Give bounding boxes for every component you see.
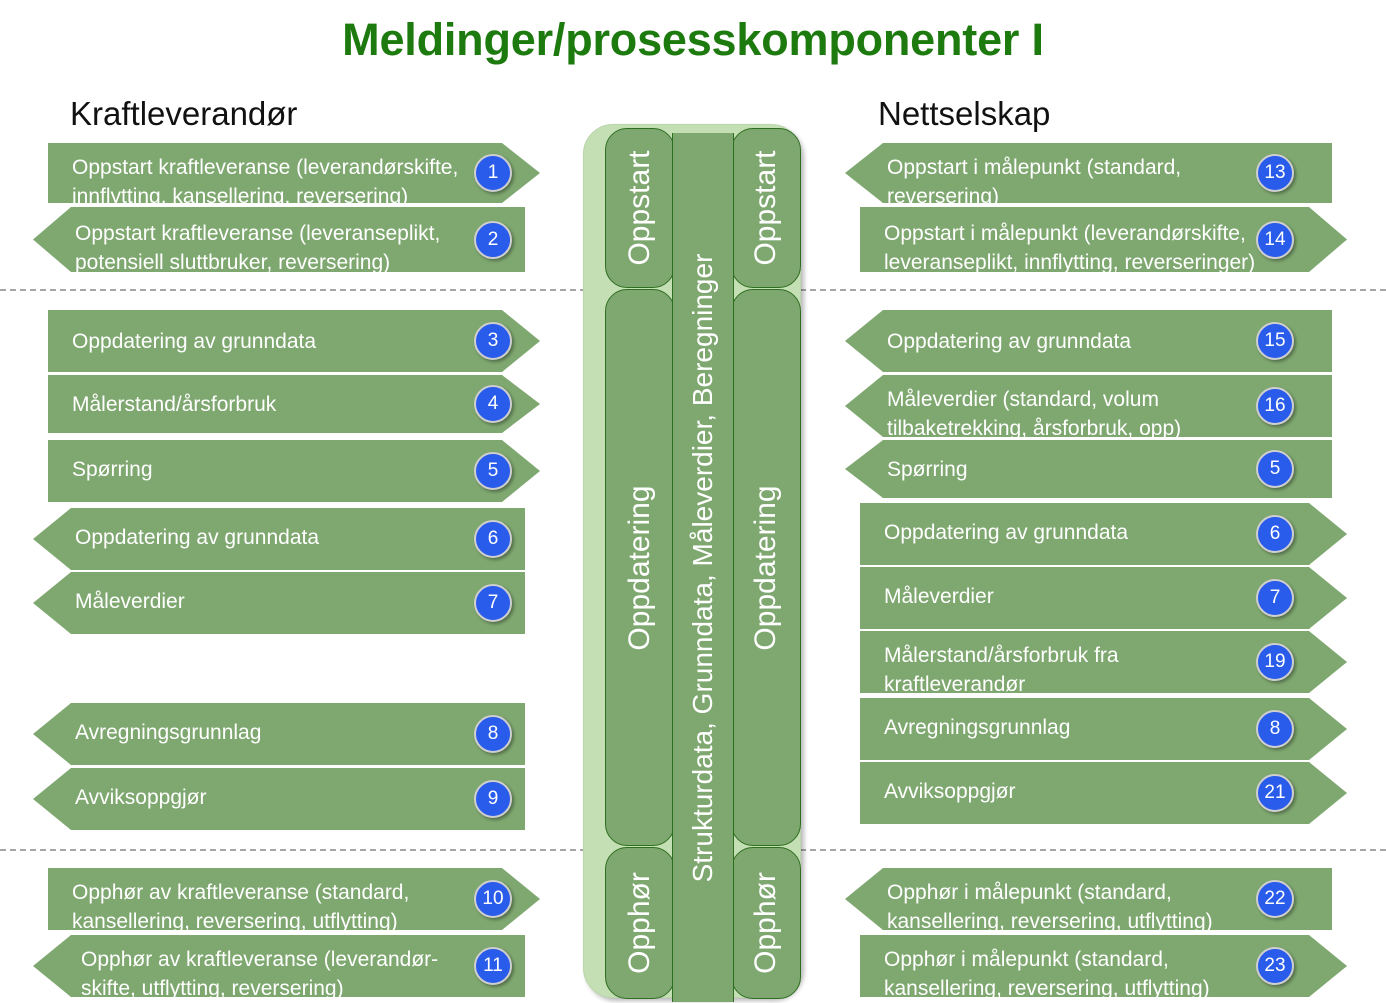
message-label: Målerstand/årsforbruk fra kraftleverandø… [884,641,1119,699]
message-chevron-left-3[interactable]: Oppdatering av grunndata [48,310,540,372]
phase-box-right-opphør: Opphør [731,847,801,999]
message-label: Oppstart kraftleveranse (leverandørskift… [72,153,458,211]
phase-box-right-oppstart: Oppstart [731,128,801,288]
message-label: Avregningsgrunnlag [75,718,261,747]
message-number-badge-right-13[interactable]: 13 [1256,154,1294,192]
phase-box-label: Oppstart [749,150,783,265]
message-number-badge-left-7[interactable]: 7 [474,584,512,622]
message-number-badge-right-14[interactable]: 14 [1256,221,1294,259]
message-chevron-left-2[interactable]: Oppstart kraftleveranse (leveranseplikt,… [33,207,525,272]
phase-box-left-oppstart: Oppstart [605,128,675,288]
page-title: Meldinger/prosesskomponenter I [0,14,1386,66]
message-number-badge-left-8[interactable]: 8 [474,715,512,753]
message-chevron-left-6[interactable]: Oppdatering av grunndata [33,508,525,570]
message-chevron-left-7[interactable]: Måleverdier [33,572,525,634]
message-number-badge-right-6[interactable]: 6 [1256,515,1294,553]
phase-box-left-opphør: Opphør [605,847,675,999]
message-label: Spørring [72,455,153,484]
message-label: Opphør av kraftleveranse (standard, kans… [72,878,409,936]
message-number-badge-right-15[interactable]: 15 [1256,322,1294,360]
message-number-badge-right-5[interactable]: 5 [1256,450,1294,488]
message-label: Oppdatering av grunndata [887,327,1131,356]
message-number-badge-left-2[interactable]: 2 [474,221,512,259]
message-number-badge-right-21[interactable]: 21 [1256,774,1294,812]
message-number-badge-left-10[interactable]: 10 [474,880,512,918]
message-chevron-left-5[interactable]: Spørring [48,440,540,502]
phase-box-left-oppdatering: Oppdatering [605,289,675,846]
message-number-badge-left-9[interactable]: 9 [474,780,512,818]
message-number-badge-right-23[interactable]: 23 [1256,947,1294,985]
message-label: Målerstand/årsforbruk [72,390,276,419]
message-chevron-left-10[interactable]: Opphør av kraftleveranse (standard, kans… [48,868,540,930]
message-number-badge-right-7[interactable]: 7 [1256,579,1294,617]
message-label: Opphør av kraftleveranse (leverandør- sk… [81,945,438,1003]
message-label: Spørring [887,455,968,484]
message-label: Måleverdier (standard, volum tilbaketrek… [887,385,1181,443]
message-chevron-left-11[interactable]: Opphør av kraftleveranse (leverandør- sk… [33,935,525,997]
message-number-badge-left-6[interactable]: 6 [474,520,512,558]
center-data-band: Strukturdata, Grunndata, Måleverdier, Be… [672,133,734,1002]
message-number-badge-right-22[interactable]: 22 [1256,880,1294,918]
message-label: Oppdatering av grunndata [72,327,316,356]
message-label: Oppdatering av grunndata [75,523,319,552]
message-number-badge-left-5[interactable]: 5 [474,452,512,490]
message-number-badge-left-4[interactable]: 4 [474,385,512,423]
message-number-badge-left-1[interactable]: 1 [474,154,512,192]
message-number-badge-right-8[interactable]: 8 [1256,710,1294,748]
phase-box-label: Oppstart [623,150,657,265]
message-label: Oppstart i målepunkt (leverandørskifte, … [884,219,1255,277]
column-heading-nettselskap: Nettselskap [878,95,1050,133]
message-chevron-left-8[interactable]: Avregningsgrunnlag [33,703,525,765]
center-data-band-label: Strukturdata, Grunndata, Måleverdier, Be… [687,253,719,882]
message-label: Opphør i målepunkt (standard, kanselleri… [887,878,1213,936]
message-label: Oppstart kraftleveranse (leveranseplikt,… [75,219,440,277]
message-label: Avviksoppgjør [884,777,1016,806]
message-label: Oppstart i målepunkt (standard, reverser… [887,153,1181,211]
message-label: Oppdatering av grunndata [884,518,1128,547]
phase-box-label: Opphør [749,872,783,974]
message-label: Avregningsgrunnlag [884,713,1070,742]
phase-box-label: Oppdatering [749,485,783,650]
phase-box-label: Opphør [623,872,657,974]
phase-box-right-oppdatering: Oppdatering [731,289,801,846]
message-number-badge-left-3[interactable]: 3 [474,322,512,360]
message-number-badge-right-16[interactable]: 16 [1256,387,1294,425]
phase-box-label: Oppdatering [623,485,657,650]
message-label: Måleverdier [75,587,185,616]
diagram-canvas: Meldinger/prosesskomponenter I Kraftleve… [0,0,1386,1002]
message-label: Opphør i målepunkt (standard, kanselleri… [884,945,1210,1003]
message-label: Måleverdier [884,582,994,611]
message-chevron-left-1[interactable]: Oppstart kraftleveranse (leverandørskift… [48,143,540,203]
message-chevron-left-4[interactable]: Målerstand/årsforbruk [48,375,540,433]
column-heading-kraftleverandor: Kraftleverandør [70,95,297,133]
message-label: Avviksoppgjør [75,783,207,812]
message-number-badge-left-11[interactable]: 11 [474,947,512,985]
message-chevron-left-9[interactable]: Avviksoppgjør [33,768,525,830]
message-number-badge-right-19[interactable]: 19 [1256,643,1294,681]
